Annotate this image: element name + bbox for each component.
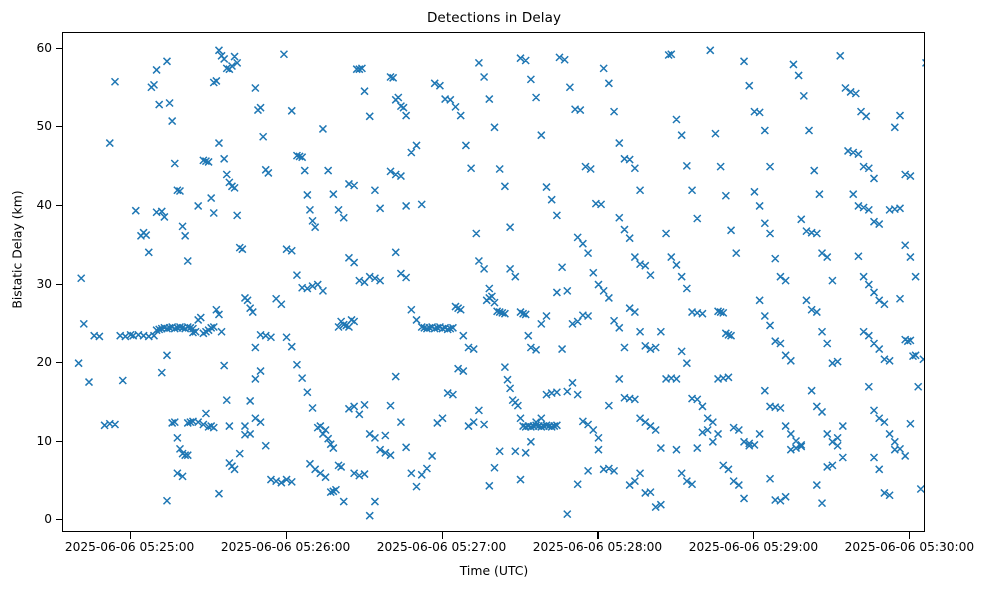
y-tick-label: 60: [36, 41, 52, 55]
x-axis-label: Time (UTC): [0, 563, 988, 578]
matplotlib-figure: Detections in Delay Bistatic Delay (km) …: [0, 0, 988, 590]
x-tick-mark: [442, 532, 443, 539]
scatter-marker-group: [75, 47, 925, 519]
y-tick-label: 20: [36, 355, 52, 369]
x-tick-label: 2025-06-06 05:28:00: [533, 540, 662, 554]
x-tick-label: 2025-06-06 05:27:00: [377, 540, 506, 554]
x-tick-mark: [597, 532, 598, 539]
x-tick-label: 2025-06-06 05:26:00: [221, 540, 350, 554]
y-tick-label: 0: [44, 512, 52, 526]
y-tick-label: 10: [36, 434, 52, 448]
x-tick-label: 2025-06-06 05:30:00: [845, 540, 974, 554]
y-tick-label: 40: [36, 198, 52, 212]
x-tick-label: 2025-06-06 05:29:00: [689, 540, 818, 554]
x-tick-mark: [909, 532, 910, 539]
scatter-series: [63, 33, 925, 532]
plot-area[interactable]: [62, 32, 925, 532]
y-tick-label-group: 0102030405060: [0, 32, 52, 532]
y-tick-label: 30: [36, 277, 52, 291]
x-tick-mark: [753, 532, 754, 539]
x-tick-label: 2025-06-06 05:25:00: [65, 540, 194, 554]
page-title: Detections in Delay: [0, 10, 988, 26]
y-tick-label: 50: [36, 119, 52, 133]
x-tick-mark: [286, 532, 287, 539]
x-tick-mark: [130, 532, 131, 539]
scatter-markers: [75, 47, 925, 519]
